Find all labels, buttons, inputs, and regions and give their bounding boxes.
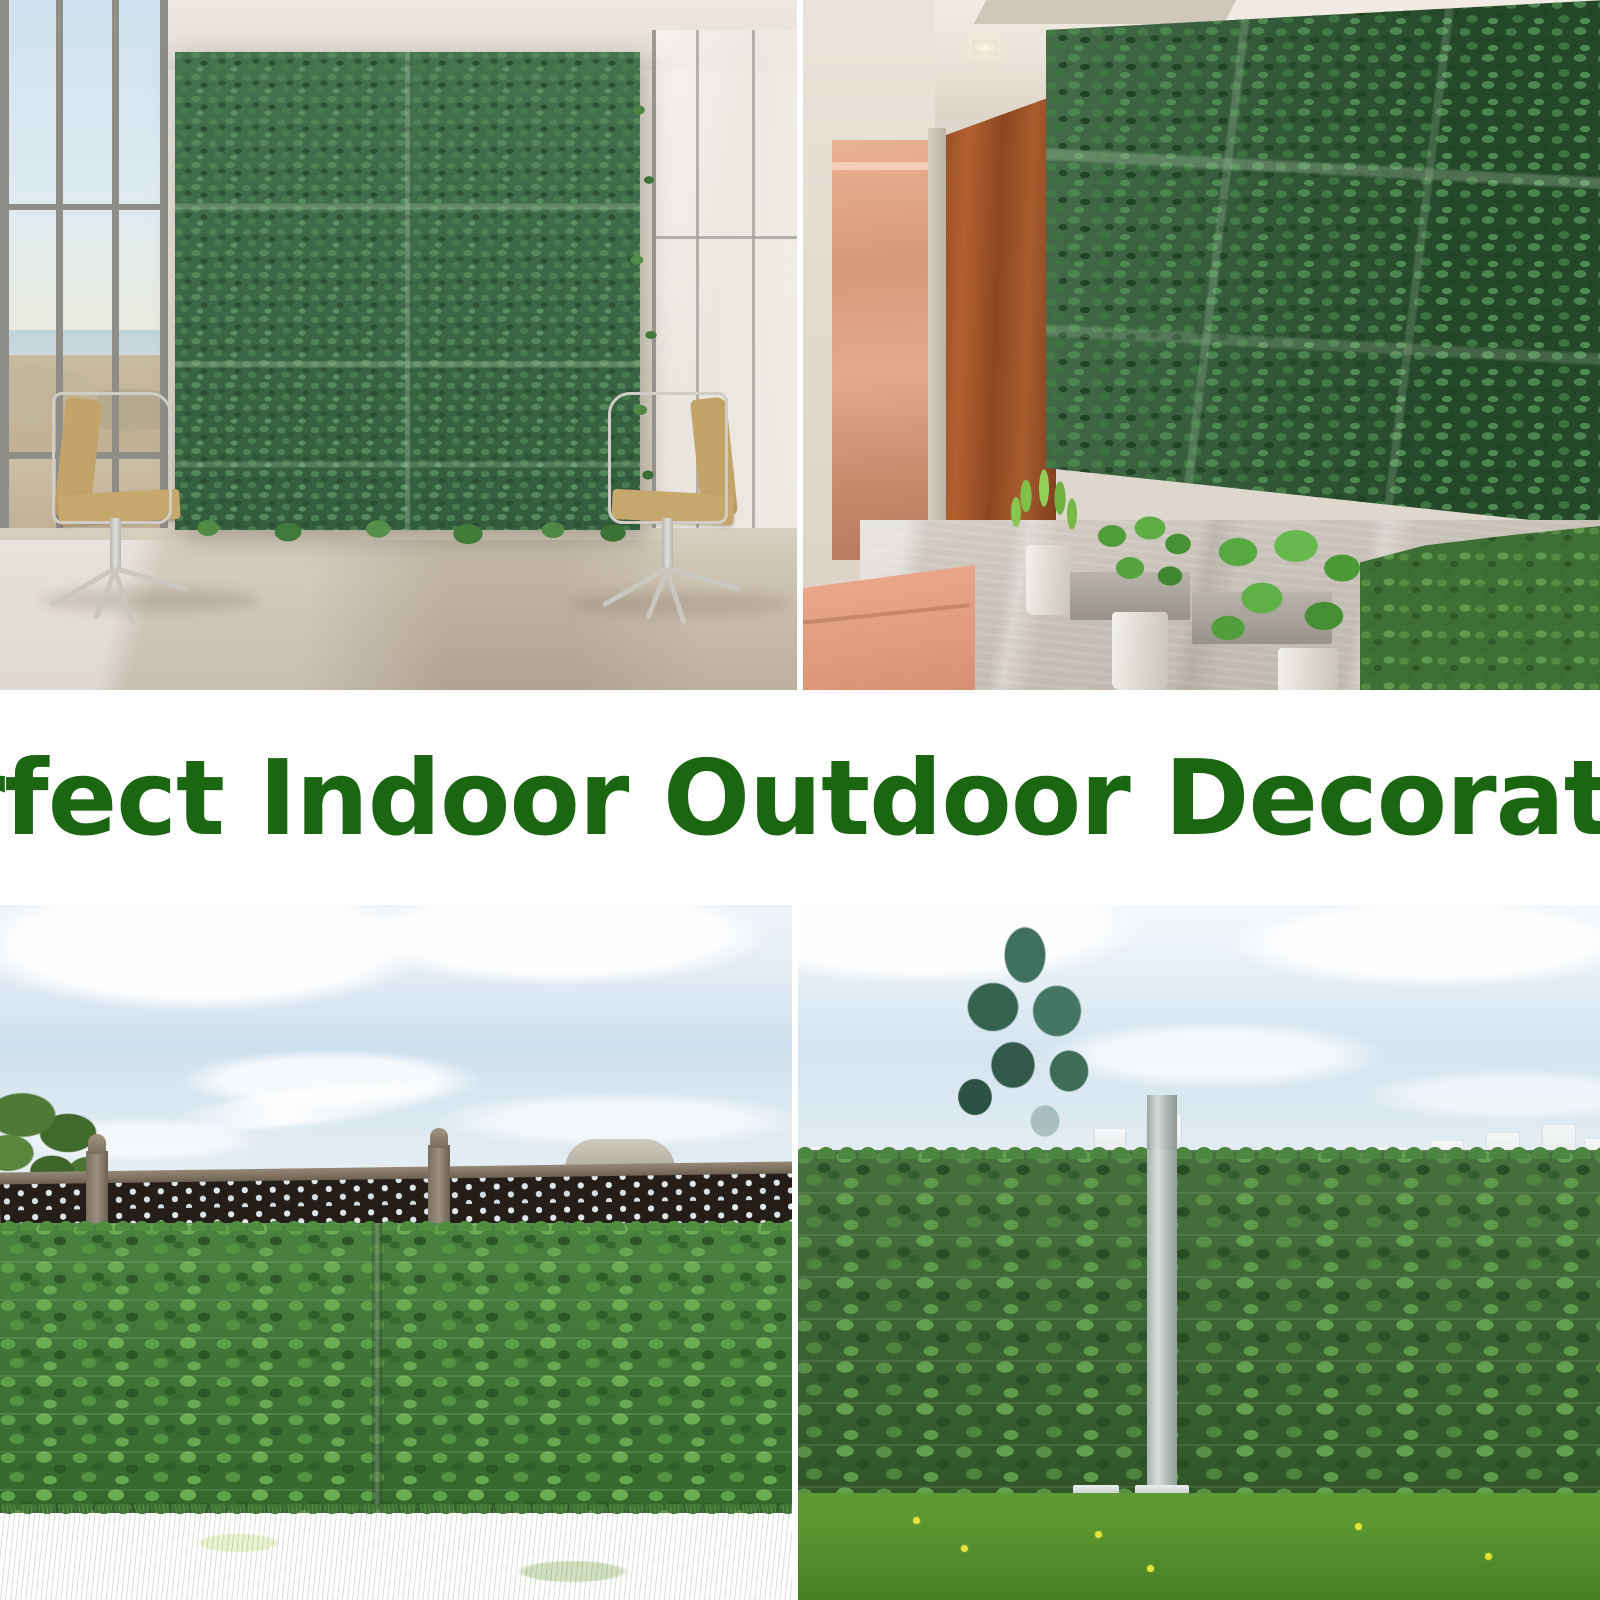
panel-bottom-right[interactable] xyxy=(795,905,1600,1600)
tr-downlight-icon xyxy=(972,40,998,55)
bl-ivy-leaf-rows xyxy=(0,1223,795,1513)
br-metal-fence-post xyxy=(1147,1095,1177,1499)
bl-ivy-privacy-screen[interactable] xyxy=(0,1223,795,1513)
product-collage-page: Perfect Indoor Outdoor Decoration xyxy=(0,0,1600,1600)
bl-ivy-top-edge xyxy=(0,1217,795,1231)
bl-clouds xyxy=(0,905,795,1195)
tl-ivy-bottom-overhang xyxy=(168,520,648,556)
top-row-divider xyxy=(797,0,803,690)
bottom-row-divider xyxy=(792,905,798,1600)
photo-row-bottom xyxy=(0,905,1600,1600)
br-ivy-top-edge xyxy=(795,1143,1600,1159)
tr-planter-pot xyxy=(1112,612,1168,690)
panel-top-right[interactable] xyxy=(800,0,1600,690)
br-dandelion-icon xyxy=(1147,1565,1154,1572)
br-dandelion-icon xyxy=(1485,1553,1492,1560)
headline-banner: Perfect Indoor Outdoor Decoration xyxy=(0,690,1600,905)
br-ivy-fence-screen[interactable] xyxy=(795,1150,1600,1500)
photo-row-top xyxy=(0,0,1600,690)
tl-panel-seams xyxy=(175,52,640,530)
br-dandelion-icon xyxy=(1095,1531,1102,1538)
tr-ceiling-slot xyxy=(974,0,1237,24)
br-lawn xyxy=(795,1493,1600,1600)
br-dandelion-icon xyxy=(961,1545,968,1552)
tr-door-frame xyxy=(928,128,946,578)
panel-bottom-left[interactable] xyxy=(0,905,795,1600)
page-title: Perfect Indoor Outdoor Decoration xyxy=(0,746,1600,850)
tr-planter-pot xyxy=(1278,648,1338,690)
tr-plant-foliage xyxy=(1078,500,1208,610)
panel-top-left[interactable] xyxy=(0,0,800,690)
bl-ivy-panel-seam xyxy=(372,1223,382,1513)
br-dandelion-icon xyxy=(913,1517,920,1524)
tr-plant-foliage xyxy=(1192,512,1382,662)
tr-planter-pot xyxy=(1026,545,1072,615)
br-ivy-leaf-rows xyxy=(795,1150,1600,1500)
br-dandelion-icon xyxy=(1355,1523,1362,1530)
tl-ivy-hedge-panel[interactable] xyxy=(175,52,640,530)
bl-lawn xyxy=(0,1505,795,1600)
